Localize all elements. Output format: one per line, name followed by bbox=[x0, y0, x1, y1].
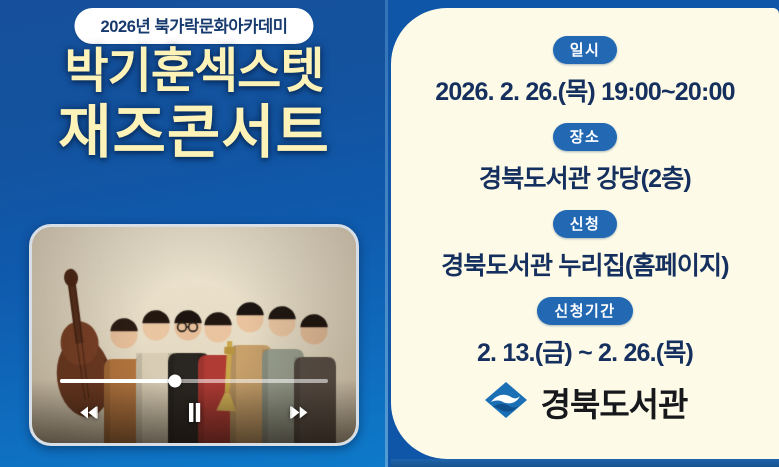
band-photo-card bbox=[29, 224, 359, 446]
info-row-datetime: 일시 2026. 2. 26.(목) 19:00~20:00 bbox=[435, 36, 735, 108]
academy-badge: 2026년 북가락문화아카데미 bbox=[74, 8, 313, 44]
info-panel: 일시 2026. 2. 26.(목) 19:00~20:00 장소 경북도서관 … bbox=[391, 8, 779, 459]
info-list: 일시 2026. 2. 26.(목) 19:00~20:00 장소 경북도서관 … bbox=[391, 36, 779, 369]
info-label-venue: 장소 bbox=[553, 123, 618, 151]
info-row-application: 신청 경북도서관 누리집(홈페이지) bbox=[441, 210, 729, 282]
bottom-accent-strip bbox=[391, 459, 779, 467]
info-value-application: 경북도서관 누리집(홈페이지) bbox=[441, 246, 729, 282]
info-label-application-period: 신청기간 bbox=[537, 297, 632, 325]
skip-forward-icon[interactable] bbox=[290, 406, 309, 419]
gyeongbuk-library-logo-icon bbox=[483, 380, 529, 425]
info-row-venue: 장소 경북도서관 강당(2층) bbox=[479, 123, 691, 195]
info-value-application-period: 2. 13.(금) ~ 2. 26.(목) bbox=[477, 333, 693, 369]
pause-icon[interactable] bbox=[187, 403, 202, 422]
organization-name: 경북도서관 bbox=[541, 378, 688, 426]
info-value-venue: 경북도서관 강당(2층) bbox=[479, 159, 691, 195]
playback-progress-fill bbox=[60, 379, 175, 383]
transport-controls bbox=[79, 403, 309, 422]
playback-progress-knob[interactable] bbox=[169, 375, 182, 388]
info-label-application: 신청 bbox=[553, 210, 618, 238]
left-visual-panel: 2026년 북가락문화아카데미 박기훈섹스텟 재즈콘서트 bbox=[0, 0, 388, 467]
info-label-datetime: 일시 bbox=[553, 36, 618, 64]
page-title-line-1: 박기훈섹스텟 bbox=[0, 48, 388, 96]
info-row-application-period: 신청기간 2. 13.(금) ~ 2. 26.(목) bbox=[477, 297, 693, 369]
title-block: 박기훈섹스텟 재즈콘서트 bbox=[0, 48, 388, 162]
playback-progress-slider[interactable] bbox=[60, 379, 328, 383]
page-title-line-2: 재즈콘서트 bbox=[0, 104, 388, 162]
info-value-datetime: 2026. 2. 26.(목) 19:00~20:00 bbox=[435, 72, 735, 108]
skip-back-icon[interactable] bbox=[79, 406, 98, 419]
organization-logo: 경북도서관 bbox=[391, 378, 779, 426]
concert-poster: 2026년 북가락문화아카데미 박기훈섹스텟 재즈콘서트 bbox=[0, 0, 779, 467]
